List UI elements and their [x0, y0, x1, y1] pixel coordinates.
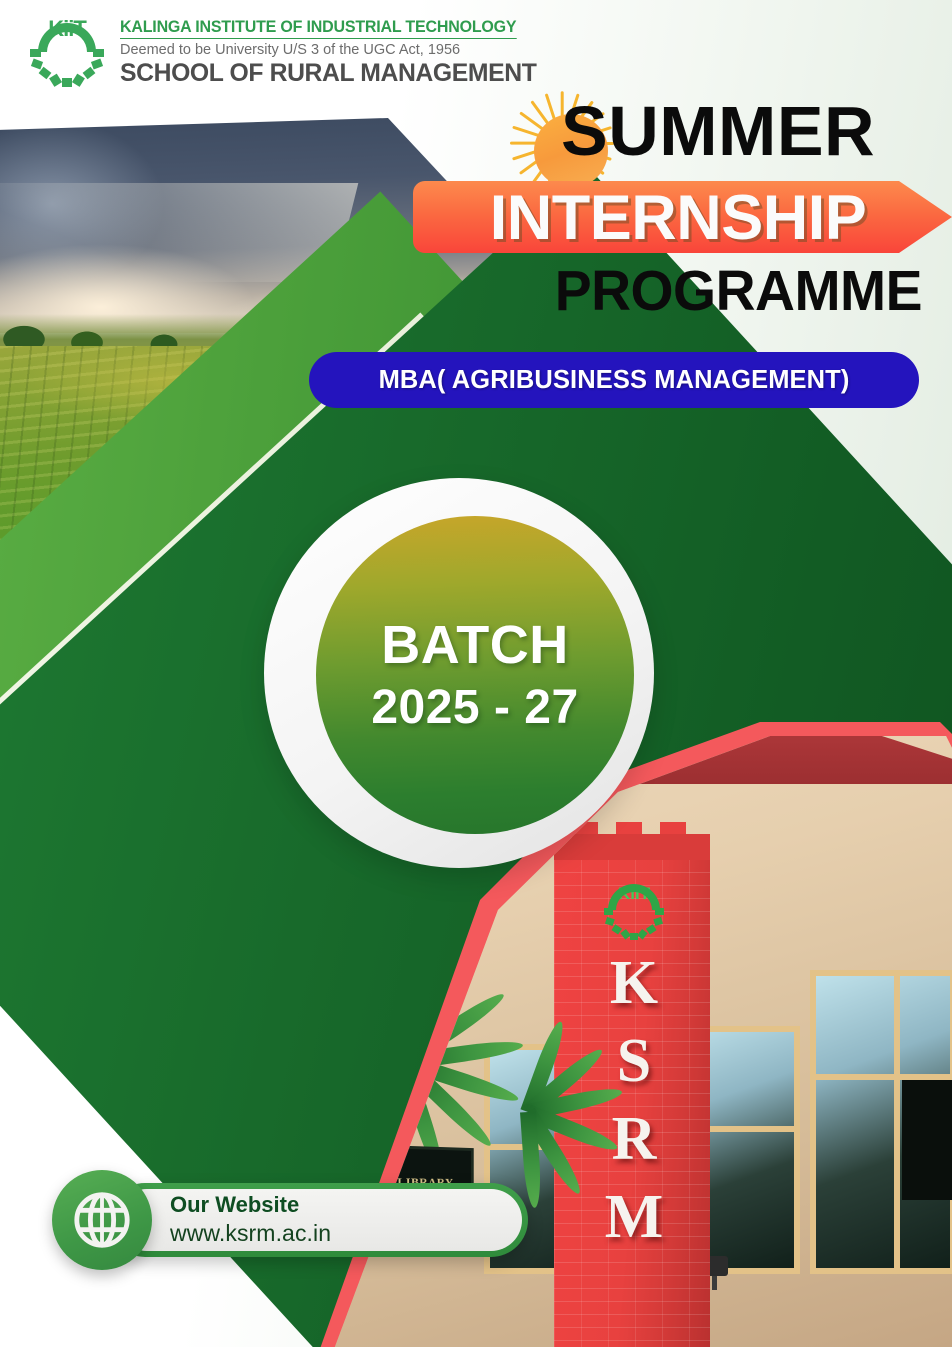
institution-line2: Deemed to be University U/S 3 of the UGC… — [120, 42, 541, 58]
batch-years: 2025 - 27 — [371, 684, 578, 732]
institution-line3: SCHOOL OF RURAL MANAGEMENT — [120, 59, 536, 88]
ksrm-sign-letter: M — [584, 1186, 684, 1248]
programme-pill: MBA( AGRIBUSINESS MANAGEMENT) — [309, 352, 919, 408]
kiit-gear-logo-icon: KiiT — [26, 14, 106, 88]
institution-name-block: KALINGA INSTITUTE OF INDUSTRIAL TECHNOLO… — [120, 14, 541, 88]
institution-header: KiiT KALINGA INSTITUTE OF INDUSTRIAL TEC… — [26, 14, 541, 88]
globe-icon — [52, 1170, 152, 1270]
batch-label: BATCH — [381, 618, 568, 672]
programme-pill-label: MBA( AGRIBUSINESS MANAGEMENT) — [379, 366, 850, 395]
ksrm-sign-letter: S — [584, 1030, 684, 1092]
institution-line1: KALINGA INSTITUTE OF INDUSTRIAL TECHNOLO… — [120, 18, 516, 39]
window-mullion — [894, 970, 900, 1274]
kiit-gear-logo-icon: KiiT — [598, 882, 670, 940]
pillar-cap — [554, 834, 710, 862]
title-programme: PROGRAMME — [28, 262, 922, 322]
title-internship: INTERNSHIP — [443, 184, 913, 252]
website-url-link[interactable]: www.ksrm.ac.in — [170, 1220, 331, 1247]
window-dark-pane — [902, 1080, 952, 1200]
batch-badge: BATCH 2025 - 27 — [316, 516, 634, 834]
title-summer: SUMMER — [561, 96, 875, 166]
ksrm-sign-letter: K — [584, 952, 684, 1014]
poster-canvas: KiiT — [0, 0, 952, 1347]
website-label: Our Website — [170, 1192, 299, 1218]
